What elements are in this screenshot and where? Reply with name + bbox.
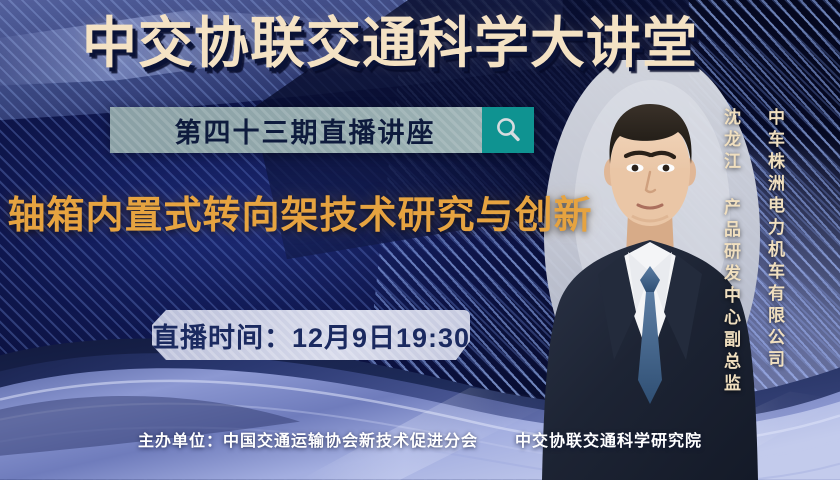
organizer-footer: 主办单位：中国交通运输协会新技术促进分会 中交协联交通科学研究院 [0, 427, 840, 451]
episode-label: 第四十三期直播讲座 [110, 107, 482, 153]
episode-banner: 第四十三期直播讲座 [110, 107, 534, 153]
lecture-title: 轴箱内置式转向架技术研究与创新 [0, 196, 600, 238]
speaker-name-title: 沈龙江 产品研发中心副总监 [718, 108, 743, 396]
broadcast-time-badge: 直播时间：12月9日19:30 [152, 310, 470, 360]
organizer-primary: 主办单位：中国交通运输协会新技术促进分会 [138, 433, 478, 450]
broadcast-time-text: 直播时间：12月9日19:30 [152, 316, 470, 355]
search-icon [482, 107, 534, 153]
poster-canvas: 中交协联交通科学大讲堂 第四十三期直播讲座 轴箱内置式转向架技术研究与创新 直播… [0, 0, 840, 480]
organizer-secondary: 中交协联交通科学研究院 [515, 433, 702, 450]
speaker-company: 中车株洲电力机车有限公司 [762, 108, 787, 372]
page-title: 中交协联交通科学大讲堂 [0, 16, 780, 71]
